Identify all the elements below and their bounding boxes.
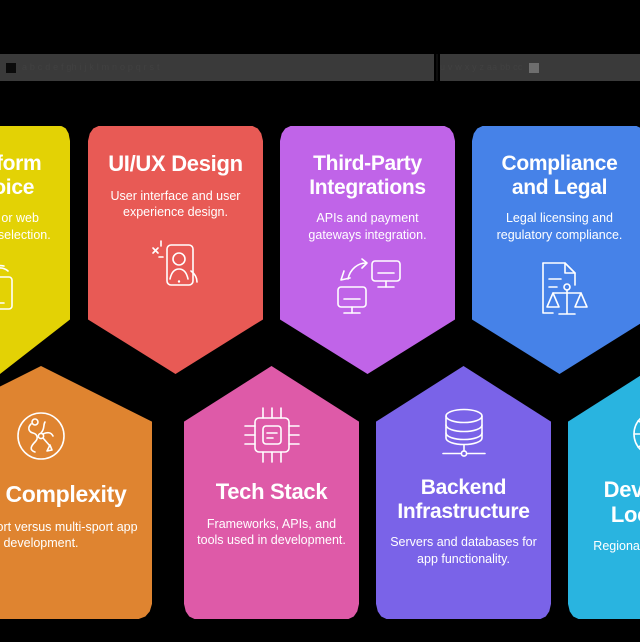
- card-description: Legal licensing and regulatory complianc…: [484, 210, 635, 243]
- phone-user-icon: [100, 235, 251, 295]
- card-platform-choice[interactable]: Platform ChoiceMobile or web platform se…: [0, 126, 70, 374]
- card-content: Platform ChoiceMobile or web platform se…: [0, 136, 58, 313]
- card-description: Frameworks, APIs, and tools used in deve…: [196, 516, 347, 549]
- card-title: Platform Choice: [0, 152, 58, 199]
- card-content: Developer LocationRegional development r…: [580, 376, 640, 571]
- card-title: UI/UX Design: [100, 152, 251, 177]
- monitor-sync-icon: [292, 257, 443, 319]
- card-description: Servers and databases for app functional…: [388, 534, 539, 567]
- card-title: App Complexity: [0, 482, 140, 508]
- card-description: APIs and payment gateways integration.: [292, 210, 443, 243]
- card-description: Regional development rates.: [580, 538, 640, 571]
- card-compliance-and-legal[interactable]: Compliance and LegalLegal licensing and …: [472, 126, 640, 374]
- card-title: Developer Location: [580, 478, 640, 527]
- mobile-device-icon: [0, 257, 58, 313]
- card-content: Tech StackFrameworks, APIs, and tools us…: [196, 376, 347, 549]
- card-content: Third-Party IntegrationsAPIs and payment…: [292, 136, 443, 319]
- cpu-chip-icon: [196, 404, 347, 466]
- card-backend-infrastructure[interactable]: Backend InfrastructureServers and databa…: [376, 366, 551, 619]
- card-app-complexity[interactable]: App ComplexitySingle-sport versus multi-…: [0, 366, 152, 619]
- network-nodes-icon: [0, 404, 140, 468]
- document-scales-icon: [484, 257, 635, 319]
- card-content: Backend InfrastructureServers and databa…: [388, 376, 539, 567]
- card-content: UI/UX DesignUser interface and user expe…: [100, 136, 251, 295]
- card-title: Third-Party Integrations: [292, 152, 443, 199]
- globe-icon: [580, 404, 640, 464]
- card-third-party-integrations[interactable]: Third-Party IntegrationsAPIs and payment…: [280, 126, 455, 374]
- card-content: Compliance and LegalLegal licensing and …: [484, 136, 635, 319]
- card-title: Tech Stack: [196, 480, 347, 505]
- card-description: User interface and user experience desig…: [100, 188, 251, 221]
- database-icon: [388, 404, 539, 462]
- card-title: Backend Infrastructure: [388, 476, 539, 523]
- card-developer-location[interactable]: Developer LocationRegional development r…: [568, 366, 640, 619]
- card-board: Platform ChoiceMobile or web platform se…: [0, 0, 640, 642]
- card-content: App ComplexitySingle-sport versus multi-…: [0, 376, 140, 552]
- card-ui-ux-design[interactable]: UI/UX DesignUser interface and user expe…: [88, 126, 263, 374]
- card-description: Single-sport versus multi-sport app deve…: [0, 519, 140, 552]
- card-title: Compliance and Legal: [484, 152, 635, 199]
- card-tech-stack[interactable]: Tech StackFrameworks, APIs, and tools us…: [184, 366, 359, 619]
- card-description: Mobile or web platform selection.: [0, 210, 58, 243]
